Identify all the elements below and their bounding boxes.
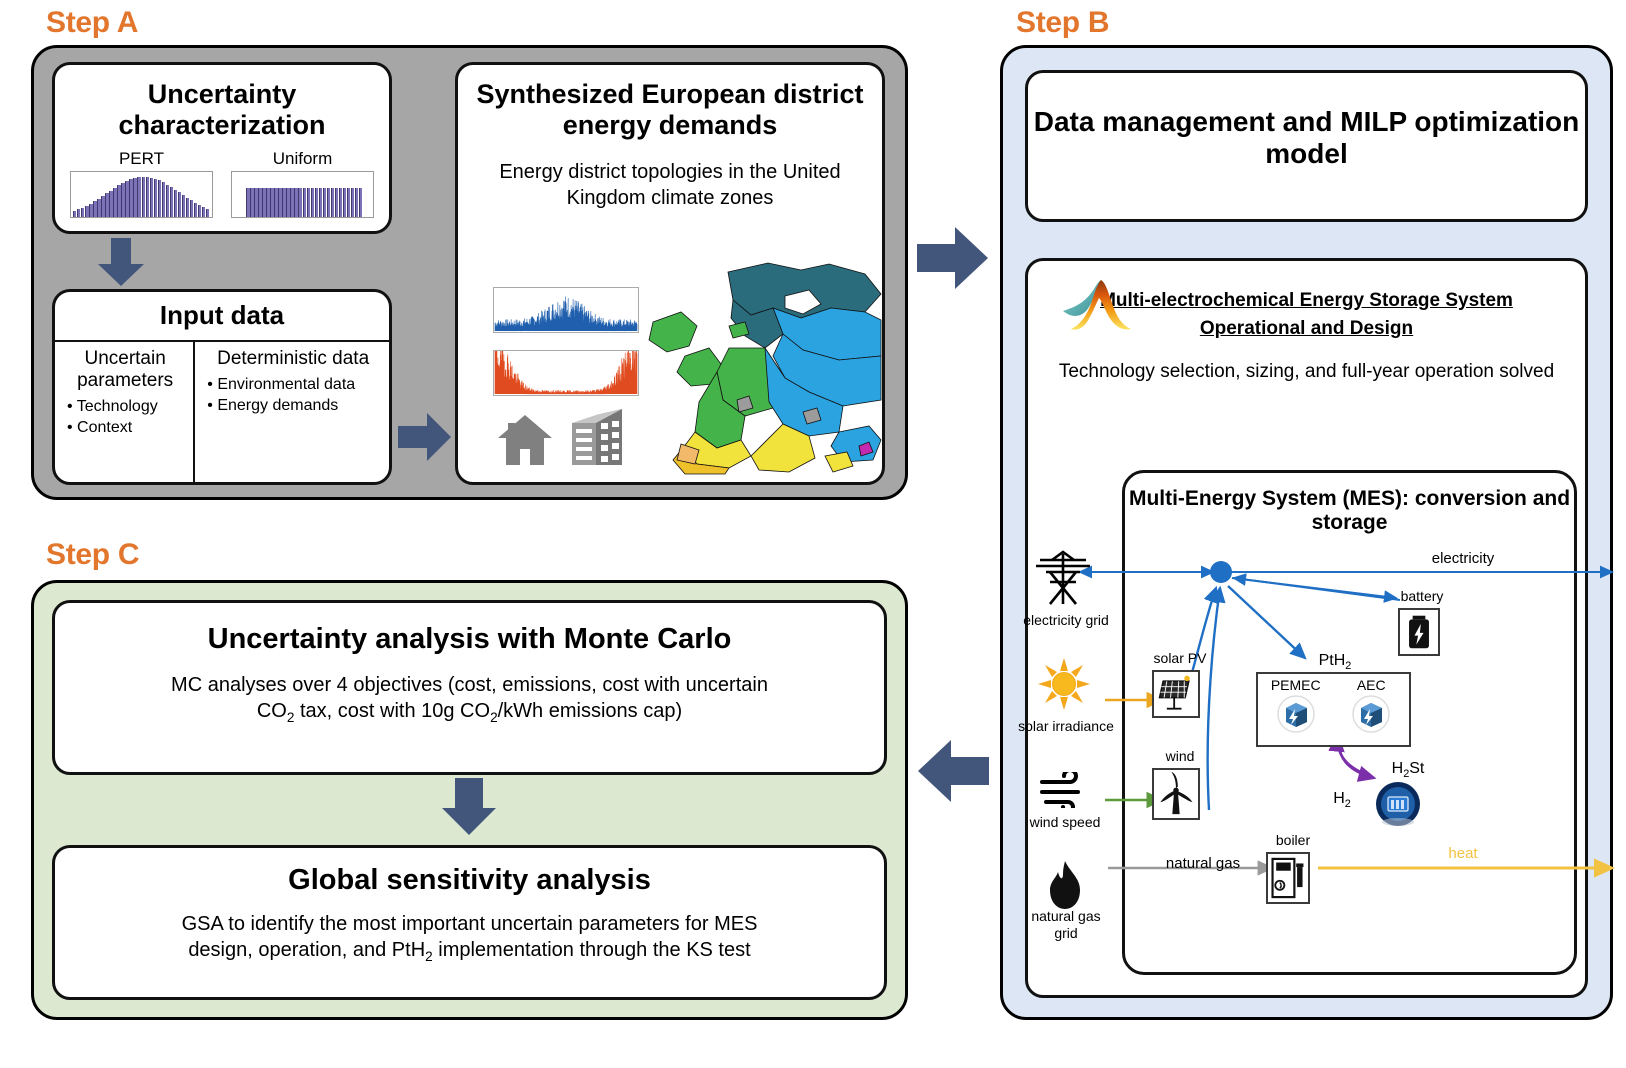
- h2st-label: H2St: [1378, 760, 1438, 780]
- arrow-uncertainty-to-input: [98, 238, 150, 288]
- arrow-step-a-to-step-b: [917, 225, 989, 291]
- house-icon: [496, 413, 554, 467]
- wind-speed-label: wind speed: [1022, 814, 1108, 831]
- electrolyser-icon: [1276, 694, 1316, 734]
- uniform-histogram: [231, 171, 374, 218]
- mc-sub-sub2: 2: [490, 710, 498, 725]
- step-a-label: Step A: [46, 6, 138, 40]
- input-data-card: Input data Uncertain parameters Technolo…: [52, 289, 392, 485]
- heat-demand-timeseries: [493, 350, 639, 396]
- flame-icon: [1046, 860, 1084, 910]
- wind-label: wind: [1145, 748, 1215, 764]
- pert-distribution: PERT: [70, 149, 213, 218]
- mees-subtitle: Technology selection, sizing, and full-y…: [1028, 360, 1585, 385]
- electricity-pylon-icon: [1032, 548, 1094, 606]
- mees-title: Multi-electrochemical Energy Storage Sys…: [1068, 261, 1545, 342]
- synthesized-demands-card: Synthesized European district energy dem…: [455, 62, 885, 485]
- deterministic-data-heading: Deterministic data: [203, 348, 383, 370]
- pth2-label: PtH2: [1300, 652, 1370, 672]
- uncertainty-title: Uncertainty characterization: [55, 79, 389, 141]
- uncertainty-characterization-card: Uncertainty characterization PERT Unifor…: [52, 62, 392, 234]
- hydrogen-tank-icon: [1374, 780, 1422, 828]
- list-item: Environmental data: [207, 374, 383, 396]
- monte-carlo-title: Uncertainty analysis with Monte Carlo: [55, 623, 884, 656]
- battery-icon: [1400, 610, 1438, 654]
- matlab-logo-icon: [1061, 277, 1133, 335]
- heat-flow-label: heat: [1432, 845, 1494, 862]
- electricity-grid-label: electricity grid: [1020, 612, 1112, 629]
- battery-label: battery: [1382, 588, 1462, 604]
- electricity-flow-label: electricity: [1418, 550, 1508, 567]
- list-item: Context: [67, 417, 187, 439]
- monte-carlo-card: Uncertainty analysis with Monte Carlo MC…: [52, 600, 887, 775]
- step-b-label: Step B: [1016, 6, 1109, 40]
- gsa-sub-line2-pre: design, operation, and PtH: [188, 939, 425, 961]
- wind-icon: [1038, 772, 1090, 808]
- gsa-subtitle: GSA to identify the most important uncer…: [55, 911, 884, 966]
- pth2-box: PEMEC AEC: [1256, 672, 1411, 747]
- arrow-step-b-to-step-c: [918, 738, 990, 804]
- uniform-distribution: Uniform: [231, 149, 374, 218]
- uniform-label: Uniform: [231, 149, 374, 169]
- gsa-sub-line2-post: implementation through the KS test: [433, 939, 751, 961]
- mc-sub-line1: MC analyses over 4 objectives (cost, emi…: [171, 674, 768, 696]
- boiler-label: boiler: [1258, 832, 1328, 848]
- wind-box: [1152, 768, 1200, 820]
- pert-histogram: [70, 171, 213, 218]
- electricity-demand-timeseries: [493, 287, 639, 333]
- pemec-label: PEMEC: [1258, 674, 1334, 693]
- uncertain-parameters-column: Uncertain parameters Technology Context: [55, 342, 195, 482]
- europe-climate-zone-map: [633, 260, 883, 475]
- step-c-label: Step C: [46, 538, 139, 572]
- monte-carlo-subtitle: MC analyses over 4 objectives (cost, emi…: [55, 672, 884, 727]
- wind-turbine-icon: [1154, 770, 1198, 818]
- gsa-title: Global sensitivity analysis: [55, 864, 884, 897]
- battery-box: [1398, 608, 1440, 656]
- sun-icon: [1038, 658, 1090, 710]
- apartment-building-icon: [568, 407, 626, 467]
- natural-gas-flow-label: natural gas: [1148, 855, 1258, 872]
- solar-pv-label: solar PV: [1140, 650, 1220, 666]
- input-data-title: Input data: [55, 292, 389, 331]
- gsa-sub-line1: GSA to identify the most important uncer…: [182, 913, 758, 935]
- solar-pv-box: [1152, 670, 1200, 718]
- mc-sub-line2-pre: CO: [257, 700, 287, 722]
- electrolyser-icon: [1351, 694, 1391, 734]
- natural-gas-grid-label: natural gas grid: [1020, 908, 1112, 942]
- list-item: Technology: [67, 396, 187, 418]
- data-management-card: Data management and MILP optimization mo…: [1025, 70, 1588, 222]
- h2-flow-label: H2: [1322, 790, 1362, 810]
- boiler-icon: [1268, 854, 1308, 902]
- arrow-mc-to-gsa: [441, 778, 497, 836]
- aec-label: AEC: [1334, 674, 1410, 693]
- gsa-card: Global sensitivity analysis GSA to ident…: [52, 845, 887, 1000]
- uncertain-parameters-heading: Uncertain parameters: [63, 348, 187, 392]
- solar-irradiance-label: solar irradiance: [1018, 718, 1114, 735]
- pert-label: PERT: [70, 149, 213, 169]
- mc-sub-line2-post: /kWh emissions cap): [498, 700, 683, 722]
- mc-sub-line2-mid: tax, cost with 10g CO: [294, 700, 490, 722]
- solar-panel-icon: [1154, 672, 1198, 716]
- arrow-input-to-synthesized: [398, 412, 452, 462]
- deterministic-data-column: Deterministic data Environmental data En…: [195, 342, 389, 482]
- boiler-box: [1266, 852, 1310, 904]
- synthesized-subtitle: Energy district topologies in the United…: [458, 159, 882, 211]
- gsa-sub-sub: 2: [425, 949, 433, 964]
- data-management-title: Data management and MILP optimization mo…: [1028, 106, 1585, 170]
- list-item: Energy demands: [207, 395, 383, 417]
- synthesized-title: Synthesized European district energy dem…: [458, 79, 882, 141]
